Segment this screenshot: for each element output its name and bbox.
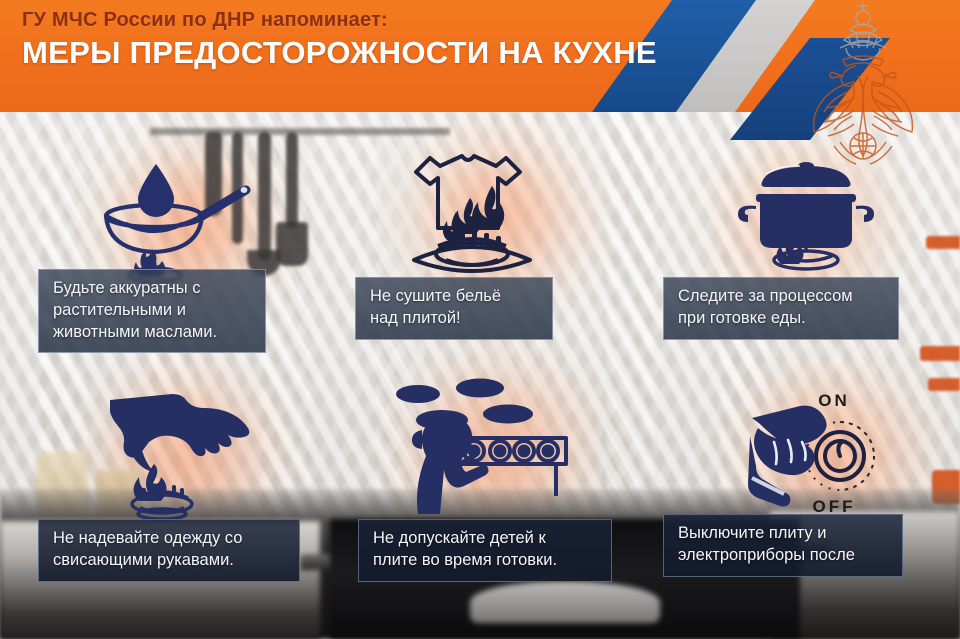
utensil-turner-head	[276, 222, 308, 266]
utensil-turner	[286, 132, 298, 228]
caption-oils: Будьте аккуратны с растительными и живот…	[38, 269, 266, 353]
caption-sleeves: Не надевайте одежду со свисающими рукава…	[38, 519, 300, 582]
infographic-poster: ГУ МЧС России по ДНР напоминает: МЕРЫ ПР…	[0, 0, 960, 639]
utensil-whisk	[232, 132, 243, 244]
handle-top	[926, 236, 960, 249]
caption-switch-off-line-1: Выключите плиту и	[678, 523, 890, 545]
handle-low	[928, 378, 960, 391]
caption-sleeves-line-1: Не надевайте одежду со	[53, 528, 287, 550]
header-banner: ГУ МЧС России по ДНР напоминает: МЕРЫ ПР…	[0, 0, 960, 112]
caption-supervise-line-2: при готовке еды.	[678, 308, 886, 330]
caption-children: Не допускайте детей к плите во время гот…	[358, 519, 612, 582]
pan-on-stove	[470, 581, 660, 623]
caption-supervise: Следите за процессом при готовке еды.	[663, 277, 899, 340]
handle-mid	[920, 346, 960, 361]
caption-laundry: Не сушите бельё над плитой!	[355, 277, 553, 340]
header-subtitle: ГУ МЧС России по ДНР напоминает:	[22, 10, 662, 30]
caption-children-line-2: плите во время готовки.	[373, 550, 599, 572]
utensil-spoon	[205, 132, 222, 216]
page-title: МЕРЫ ПРЕДОСТОРОЖНОСТИ НА КУХНЕ	[22, 37, 662, 68]
caption-children-line-1: Не допускайте детей к	[373, 528, 599, 550]
header-title-group: ГУ МЧС России по ДНР напоминает: МЕРЫ ПР…	[22, 10, 662, 68]
caption-laundry-line-1: Не сушите бельё	[370, 286, 540, 308]
caption-switch-off: Выключите плиту и электроприборы после	[663, 514, 903, 577]
caption-oils-line-1: Будьте аккуратны с	[53, 278, 253, 300]
caption-sleeves-line-2: свисающими рукавами.	[53, 550, 287, 572]
caption-laundry-line-2: над плитой!	[370, 308, 540, 330]
caption-oils-line-3: животными маслами.	[53, 322, 253, 344]
caption-supervise-line-1: Следите за процессом	[678, 286, 886, 308]
utensil-ladle	[258, 132, 271, 260]
utensil-rail	[150, 128, 450, 135]
caption-oils-line-2: растительными и	[53, 300, 253, 322]
caption-switch-off-line-2: электроприборы после	[678, 545, 890, 567]
